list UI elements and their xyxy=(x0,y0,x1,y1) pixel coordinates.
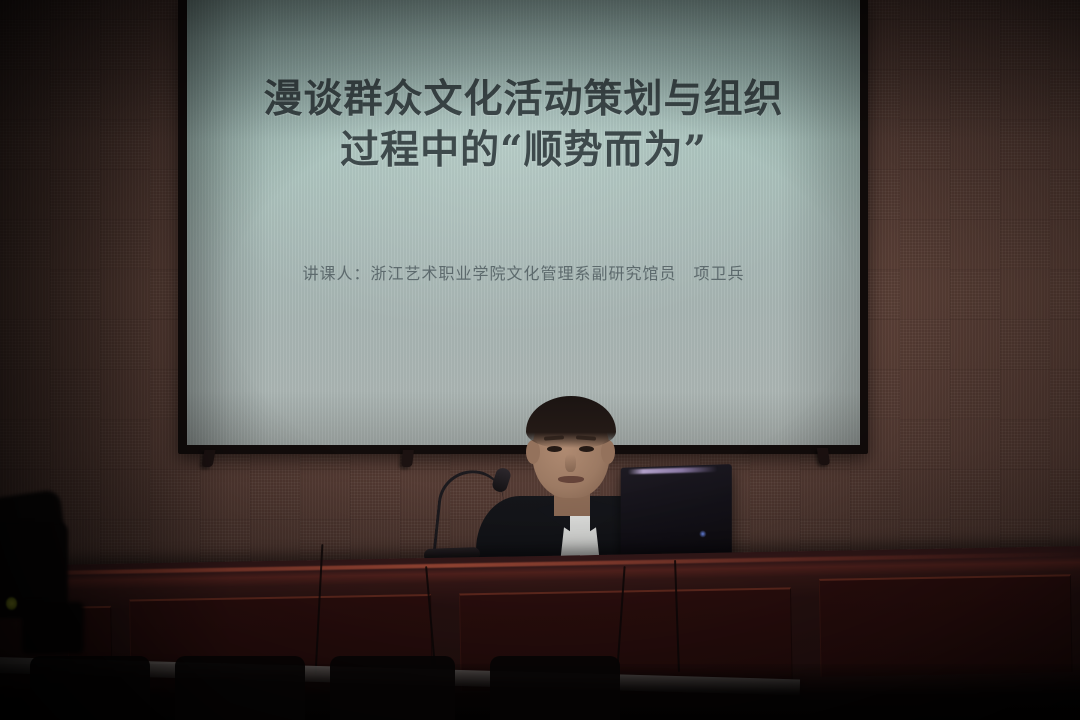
projection-screen-surface: 漫谈群众文化活动策划与组织 过程中的“顺势而为” 讲课人：浙江艺术职业学院文化管… xyxy=(187,0,860,445)
chair xyxy=(490,656,620,720)
monitor-power-led xyxy=(699,530,706,537)
chair xyxy=(175,656,305,720)
slide-presenter-line: 讲课人：浙江艺术职业学院文化管理系副研究馆员 项卫兵 xyxy=(187,260,860,284)
chair xyxy=(330,656,455,720)
camera-status-led xyxy=(6,597,17,610)
monitor-rear xyxy=(621,464,732,560)
lecture-hall-photo: 漫谈群众文化活动策划与组织 过程中的“顺势而为” 讲课人：浙江艺术职业学院文化管… xyxy=(0,0,1080,720)
projector-hotspot xyxy=(187,0,860,445)
speaker-hair xyxy=(526,396,616,448)
camera-arm xyxy=(22,602,84,654)
podium-panel xyxy=(819,574,1073,677)
screen-hanging-tab xyxy=(401,450,414,467)
slide-title-line2: 过程中的“顺势而为” xyxy=(187,125,860,176)
screen-vignette xyxy=(187,0,860,445)
chair xyxy=(30,656,150,720)
speaker-eye-right xyxy=(579,446,594,452)
speaker-nose xyxy=(565,454,576,472)
screen-hanging-tab xyxy=(817,448,830,465)
projection-screen: 漫谈群众文化活动策划与组织 过程中的“顺势而为” 讲课人：浙江艺术职业学院文化管… xyxy=(178,0,868,454)
speaker-mouth xyxy=(558,476,584,483)
monitor-top-highlight xyxy=(628,467,718,475)
slide-title: 漫谈群众文化活动策划与组织 过程中的“顺势而为” xyxy=(187,74,860,177)
slide-title-line1: 漫谈群众文化活动策划与组织 xyxy=(263,76,783,122)
foreground-shadow xyxy=(0,664,1080,720)
speaker-eye-left xyxy=(547,446,562,452)
video-camera-rig xyxy=(0,492,102,672)
